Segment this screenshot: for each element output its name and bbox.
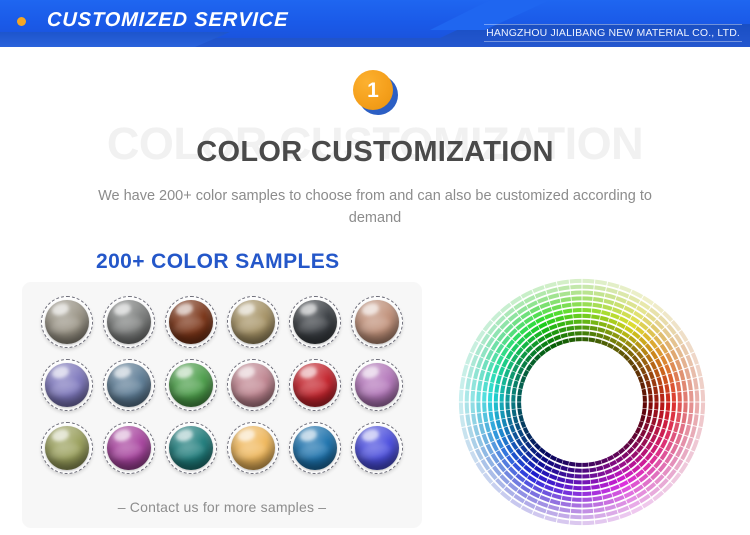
wheel-swatch bbox=[672, 393, 676, 402]
swatch-color-blob bbox=[107, 426, 151, 470]
wheel-swatch bbox=[482, 402, 487, 412]
wheel-swatch bbox=[512, 388, 517, 395]
wheel-swatch bbox=[473, 368, 480, 379]
wheel-swatch bbox=[596, 466, 603, 472]
wheel-swatch bbox=[569, 462, 576, 467]
wheel-swatch bbox=[648, 425, 654, 433]
wheel-swatch bbox=[513, 380, 519, 387]
wheel-swatch bbox=[623, 354, 630, 361]
wheel-swatch bbox=[504, 426, 511, 435]
wheel-swatch bbox=[599, 477, 608, 483]
wheel-swatch bbox=[562, 496, 572, 501]
wheel-swatch bbox=[509, 371, 515, 379]
wheel-swatch bbox=[517, 429, 524, 437]
wheel-swatch bbox=[517, 409, 522, 416]
color-samples-card: – Contact us for more samples – bbox=[22, 282, 422, 528]
wheel-swatch bbox=[490, 421, 496, 431]
wheel-swatch bbox=[592, 303, 602, 308]
wheel-swatch bbox=[516, 357, 523, 365]
wheel-swatch bbox=[535, 345, 543, 352]
wheel-swatch bbox=[498, 366, 505, 375]
swatch-color-blob bbox=[231, 426, 275, 470]
wheel-swatch bbox=[521, 361, 528, 369]
wheel-swatch bbox=[535, 452, 543, 459]
wheel-swatch bbox=[607, 343, 614, 349]
wheel-swatch bbox=[565, 479, 573, 484]
wheel-swatch bbox=[537, 336, 545, 343]
wheel-swatch bbox=[643, 373, 649, 381]
wheel-swatch bbox=[641, 439, 648, 447]
wheel-swatch bbox=[670, 412, 675, 421]
color-swatch-royal-indigo[interactable] bbox=[349, 420, 405, 476]
wheel-swatch bbox=[614, 470, 623, 477]
wheel-swatch bbox=[638, 421, 644, 428]
wheel-swatch bbox=[560, 466, 567, 472]
wheel-swatch bbox=[462, 364, 469, 376]
wheel-swatch bbox=[553, 335, 561, 341]
page-title: COLOR CUSTOMIZATION bbox=[0, 120, 750, 169]
wheel-swatch bbox=[498, 428, 505, 437]
wheel-swatch bbox=[627, 350, 635, 358]
contact-footnote: – Contact us for more samples – bbox=[22, 499, 422, 515]
wheel-swatch bbox=[695, 427, 702, 439]
wheel-swatch bbox=[668, 373, 674, 383]
wheel-swatch bbox=[655, 437, 662, 446]
wheel-swatch bbox=[675, 359, 682, 370]
company-name-block: HANGZHOU JIALIBANG NEW MATERIAL CO., LTD… bbox=[484, 22, 742, 44]
wheel-swatch bbox=[648, 402, 652, 409]
wheel-swatch bbox=[482, 392, 487, 402]
wheel-swatch bbox=[521, 436, 528, 444]
wheel-swatch bbox=[582, 320, 590, 324]
wheel-swatch bbox=[550, 499, 561, 505]
wheel-swatch bbox=[599, 321, 608, 327]
wheel-swatch bbox=[653, 386, 658, 394]
wheel-swatch bbox=[488, 402, 492, 411]
wheel-swatch bbox=[483, 382, 488, 392]
wheel-swatch bbox=[621, 452, 629, 459]
wheel-swatch bbox=[664, 364, 671, 374]
wheel-swatch bbox=[657, 419, 663, 428]
color-swatch-taupe-gray[interactable] bbox=[39, 294, 95, 350]
wheel-swatch bbox=[617, 322, 626, 329]
wheel-swatch bbox=[600, 316, 609, 322]
wheel-swatch bbox=[605, 329, 613, 335]
wheel-swatch bbox=[555, 482, 564, 488]
wheel-swatch bbox=[681, 380, 687, 391]
wheel-swatch bbox=[605, 504, 616, 511]
color-swatch-grid bbox=[36, 294, 408, 476]
color-swatch-crimson-red[interactable] bbox=[287, 357, 343, 413]
wheel-swatch bbox=[640, 382, 645, 389]
wheel-swatch bbox=[460, 377, 466, 389]
page-subtitle: We have 200+ color samples to choose fro… bbox=[80, 185, 670, 230]
wheel-swatch bbox=[465, 378, 471, 390]
wheel-swatch bbox=[538, 475, 547, 482]
wheel-swatch bbox=[664, 411, 669, 420]
wheel-swatch bbox=[556, 458, 563, 464]
wheel-swatch bbox=[657, 377, 663, 386]
wheel-swatch bbox=[605, 468, 613, 474]
wheel-swatch bbox=[606, 474, 615, 481]
wheel-swatch bbox=[594, 291, 605, 297]
wheel-swatch bbox=[555, 316, 564, 322]
wheel-swatch bbox=[557, 280, 569, 286]
wheel-swatch bbox=[672, 402, 676, 411]
wheel-swatch bbox=[647, 388, 652, 395]
wheel-swatch bbox=[591, 314, 600, 319]
wheel-swatch bbox=[575, 468, 582, 472]
wheel-swatch bbox=[571, 503, 581, 508]
wheel-swatch bbox=[565, 320, 573, 325]
wheel-swatch bbox=[490, 373, 496, 383]
wheel-swatch bbox=[590, 326, 598, 331]
wheel-swatch bbox=[613, 346, 620, 353]
wheel-swatch bbox=[553, 488, 563, 494]
wheel-swatch bbox=[676, 412, 681, 422]
wheel-swatch bbox=[676, 382, 681, 392]
company-name: HANGZHOU JIALIBANG NEW MATERIAL CO., LTD… bbox=[484, 24, 742, 42]
wheel-swatch bbox=[640, 429, 647, 437]
wheel-swatch bbox=[631, 364, 638, 371]
wheel-swatch bbox=[700, 390, 705, 402]
wheel-swatch bbox=[695, 402, 700, 413]
samples-section-heading: 200+ COLOR SAMPLES bbox=[96, 250, 340, 274]
wheel-swatch bbox=[684, 425, 691, 436]
wheel-swatch bbox=[613, 451, 620, 458]
wheel-swatch bbox=[623, 443, 630, 450]
wheel-swatch bbox=[684, 368, 691, 379]
wheel-swatch bbox=[654, 394, 658, 401]
wheel-swatch bbox=[570, 520, 582, 525]
color-swatch-olive-green[interactable] bbox=[39, 420, 95, 476]
wheel-swatch bbox=[610, 313, 620, 320]
wheel-swatch bbox=[655, 358, 662, 367]
wheel-swatch bbox=[659, 410, 664, 418]
wheel-swatch bbox=[550, 299, 561, 305]
wheel-swatch bbox=[642, 389, 647, 396]
wheel-swatch bbox=[675, 434, 682, 445]
wheel-swatch bbox=[541, 456, 549, 463]
wheel-swatch bbox=[526, 433, 533, 440]
wheel-swatch bbox=[489, 383, 494, 392]
header-angled-tail bbox=[0, 32, 230, 47]
wheel-swatch bbox=[575, 331, 582, 335]
wheel-swatch bbox=[608, 479, 617, 486]
wheel-swatch bbox=[546, 510, 558, 517]
wheel-swatch bbox=[570, 285, 581, 290]
wheel-swatch bbox=[648, 371, 654, 379]
wheel-swatch bbox=[582, 463, 588, 467]
wheel-swatch bbox=[590, 473, 598, 478]
wheel-swatch bbox=[559, 471, 567, 477]
wheel-swatch bbox=[670, 383, 675, 392]
color-swatch-deep-teal[interactable] bbox=[163, 420, 219, 476]
wheel-swatch bbox=[557, 519, 569, 525]
wheel-swatch bbox=[493, 364, 500, 374]
wheel-swatch bbox=[689, 391, 694, 402]
wheel-swatch bbox=[636, 361, 643, 369]
wheel-swatch bbox=[582, 285, 593, 290]
color-swatch-magenta-plum[interactable] bbox=[101, 420, 157, 476]
wheel-swatch bbox=[517, 402, 521, 408]
wheel-swatch bbox=[582, 296, 592, 301]
wheel-swatch bbox=[609, 337, 617, 344]
wheel-swatch bbox=[568, 467, 575, 472]
swatch-color-blob bbox=[107, 300, 151, 344]
wheel-swatch bbox=[619, 336, 627, 343]
title-block: COLOR CUSTOMIZATION COLOR CUSTOMIZATION … bbox=[0, 120, 750, 230]
wheel-swatch bbox=[662, 420, 668, 429]
wheel-swatch bbox=[525, 441, 532, 449]
wheel-swatch bbox=[619, 461, 627, 468]
wheel-swatch bbox=[660, 402, 664, 410]
wheel-swatch bbox=[582, 509, 593, 514]
wheel-swatch bbox=[482, 359, 489, 370]
wheel-swatch bbox=[557, 321, 566, 327]
wheel-swatch bbox=[500, 394, 504, 402]
wheel-swatch bbox=[544, 332, 552, 339]
wheel-swatch bbox=[530, 350, 538, 358]
wheel-swatch bbox=[562, 460, 569, 465]
wheel-swatch bbox=[600, 482, 609, 488]
color-swatch-dusty-pink[interactable] bbox=[225, 357, 281, 413]
wheel-swatch bbox=[552, 304, 562, 310]
wheel-swatch bbox=[640, 367, 647, 375]
color-swatch-orchid-mauve[interactable] bbox=[349, 357, 405, 413]
wheel-swatch bbox=[523, 427, 529, 434]
wheel-swatch bbox=[690, 426, 697, 438]
wheel-swatch bbox=[606, 510, 618, 517]
wheel-swatch bbox=[592, 490, 601, 495]
wheel-swatch bbox=[648, 395, 652, 402]
color-swatch-dark-brown[interactable] bbox=[163, 294, 219, 350]
wheel-swatch bbox=[683, 391, 688, 401]
swatch-color-blob bbox=[231, 363, 275, 407]
wheel-swatch bbox=[462, 427, 469, 439]
wheel-swatch bbox=[562, 339, 569, 344]
wheel-swatch bbox=[677, 392, 682, 402]
wheel-swatch bbox=[553, 463, 561, 469]
swatch-color-blob bbox=[169, 300, 213, 344]
wheel-swatch bbox=[544, 515, 556, 522]
wheel-swatch bbox=[582, 331, 589, 335]
wheel-swatch bbox=[693, 378, 699, 390]
wheel-swatch bbox=[467, 366, 474, 378]
wheel-swatch bbox=[507, 417, 513, 425]
wheel-swatch bbox=[501, 419, 507, 428]
wheel-swatch bbox=[641, 357, 648, 365]
wheel-swatch bbox=[654, 426, 661, 435]
wheel-swatch bbox=[695, 390, 700, 401]
wheel-swatch bbox=[566, 473, 574, 478]
wheel-swatch bbox=[582, 314, 591, 318]
color-swatch-periwinkle-purple[interactable] bbox=[39, 357, 95, 413]
wheel-swatch bbox=[483, 412, 488, 422]
page-header: CUSTOMIZED SERVICE HANGZHOU JIALIBANG NE… bbox=[0, 0, 750, 47]
wheel-swatch bbox=[582, 325, 589, 329]
wheel-swatch bbox=[627, 447, 635, 455]
wheel-swatch bbox=[511, 402, 515, 409]
wheel-swatch bbox=[541, 341, 549, 348]
wheel-swatch bbox=[487, 432, 494, 442]
wheel-swatch bbox=[574, 325, 581, 329]
wheel-swatch bbox=[520, 421, 526, 428]
wheel-swatch bbox=[573, 308, 582, 312]
wheel-swatch bbox=[612, 490, 622, 497]
wheel-swatch bbox=[471, 414, 477, 425]
wheel-swatch bbox=[699, 377, 705, 389]
wheel-swatch bbox=[646, 380, 652, 387]
wheel-swatch bbox=[612, 465, 620, 472]
wheel-swatch bbox=[558, 513, 570, 519]
wheel-swatch bbox=[484, 372, 490, 382]
wheel-swatch bbox=[544, 282, 556, 289]
wheel-swatch bbox=[460, 415, 466, 427]
wheel-swatch bbox=[572, 497, 582, 502]
wheel-swatch bbox=[505, 394, 509, 401]
wheel-swatch bbox=[479, 370, 485, 381]
color-swatch-rosy-tan[interactable] bbox=[349, 294, 405, 350]
wheel-swatch bbox=[517, 389, 522, 396]
wheel-swatch bbox=[494, 411, 499, 420]
wheel-swatch bbox=[526, 364, 533, 371]
wheel-swatch bbox=[546, 318, 555, 325]
wheel-swatch bbox=[666, 402, 670, 411]
wheel-swatch bbox=[494, 384, 499, 393]
wheel-swatch bbox=[594, 507, 605, 513]
wheel-swatch bbox=[689, 402, 694, 413]
wheel-swatch bbox=[502, 358, 509, 367]
wheel-swatch bbox=[494, 393, 498, 402]
wheel-swatch bbox=[582, 503, 592, 508]
wheel-swatch bbox=[544, 484, 554, 491]
wheel-swatch bbox=[560, 501, 571, 507]
wheel-swatch bbox=[654, 402, 658, 409]
wheel-swatch bbox=[595, 460, 602, 465]
wheel-swatch bbox=[595, 519, 607, 525]
wheel-swatch bbox=[476, 391, 481, 401]
wheel-swatch bbox=[507, 434, 514, 443]
wheel-swatch bbox=[573, 486, 582, 490]
wheel-swatch bbox=[604, 299, 615, 305]
wheel-swatch bbox=[695, 364, 702, 376]
wheel-swatch bbox=[569, 337, 576, 342]
wheel-swatch bbox=[679, 424, 685, 435]
wheel-swatch bbox=[459, 402, 464, 414]
wheel-swatch bbox=[573, 492, 582, 496]
swatch-color-blob bbox=[107, 363, 151, 407]
wheel-swatch bbox=[690, 366, 697, 378]
wheel-swatch bbox=[559, 291, 570, 297]
wheel-swatch bbox=[507, 379, 513, 387]
swatch-color-blob bbox=[45, 426, 89, 470]
wheel-swatch bbox=[631, 433, 638, 440]
wheel-swatch bbox=[477, 413, 483, 424]
wheel-swatch bbox=[542, 490, 552, 497]
wheel-swatch bbox=[592, 309, 601, 314]
wheel-swatch bbox=[643, 402, 647, 408]
wheel-swatch bbox=[562, 303, 572, 308]
wheel-swatch bbox=[595, 280, 607, 286]
color-swatch-medium-gray[interactable] bbox=[101, 294, 157, 350]
wheel-swatch bbox=[597, 471, 605, 477]
wheel-swatch bbox=[668, 421, 674, 431]
wheel-swatch bbox=[479, 424, 485, 435]
wheel-swatch bbox=[642, 409, 647, 416]
wheel-swatch bbox=[500, 402, 504, 410]
wheel-swatch bbox=[506, 386, 511, 394]
wheel-swatch bbox=[566, 326, 574, 331]
wheel-swatch bbox=[575, 337, 581, 341]
wheel-swatch bbox=[592, 496, 602, 501]
wheel-swatch bbox=[700, 402, 705, 414]
wheel-swatch bbox=[636, 436, 643, 444]
wheel-swatch bbox=[538, 322, 547, 329]
wheel-swatch bbox=[513, 416, 519, 423]
wheel-swatch bbox=[500, 385, 505, 393]
wheel-swatch bbox=[693, 414, 699, 426]
wheel-swatch bbox=[645, 432, 652, 440]
wheel-swatch bbox=[679, 370, 685, 381]
wheel-swatch bbox=[621, 345, 629, 352]
wheel-swatch bbox=[643, 423, 649, 431]
wheel-swatch bbox=[500, 410, 505, 418]
wheel-swatch bbox=[606, 287, 618, 294]
wheel-swatch bbox=[677, 402, 682, 412]
color-swatch-amber-yellow[interactable] bbox=[225, 420, 281, 476]
wheel-swatch bbox=[643, 395, 647, 401]
wheel-swatch bbox=[589, 462, 596, 467]
wheel-swatch bbox=[647, 409, 652, 416]
wheel-swatch bbox=[582, 520, 594, 525]
wheel-swatch bbox=[597, 327, 605, 333]
wheel-swatch bbox=[590, 320, 598, 325]
wheel-swatch bbox=[548, 504, 559, 511]
wheel-swatch bbox=[512, 432, 519, 440]
color-swatch-slate-blue[interactable] bbox=[101, 357, 157, 413]
wheel-swatch bbox=[520, 376, 526, 383]
wheel-swatch bbox=[550, 343, 557, 349]
wheel-swatch bbox=[519, 415, 524, 422]
wheel-swatch bbox=[556, 340, 563, 346]
wheel-swatch bbox=[549, 324, 558, 331]
wheel-swatch bbox=[549, 474, 558, 481]
wheel-swatch bbox=[582, 291, 593, 296]
wheel-swatch bbox=[594, 285, 606, 291]
wheel-swatch bbox=[609, 460, 617, 467]
color-swatch-khaki-gold[interactable] bbox=[225, 294, 281, 350]
wheel-swatch bbox=[681, 413, 687, 424]
swatch-color-blob bbox=[293, 426, 337, 470]
wheel-swatch bbox=[607, 455, 614, 461]
wheel-swatch bbox=[511, 395, 515, 402]
wheel-swatch bbox=[560, 297, 571, 303]
wheel-swatch bbox=[659, 366, 666, 375]
color-swatch-leaf-green[interactable] bbox=[163, 357, 219, 413]
wheel-swatch bbox=[548, 293, 559, 300]
wheel-swatch bbox=[582, 480, 590, 484]
wheel-swatch bbox=[571, 291, 582, 296]
swatch-color-blob bbox=[231, 300, 275, 344]
wheel-swatch bbox=[515, 373, 521, 381]
wheel-swatch bbox=[650, 361, 657, 370]
wheel-swatch bbox=[517, 367, 524, 375]
wheel-swatch bbox=[465, 402, 470, 413]
color-swatch-steel-blue[interactable] bbox=[287, 420, 343, 476]
wheel-swatch bbox=[482, 434, 489, 445]
color-swatch-charcoal-black[interactable] bbox=[287, 294, 343, 350]
